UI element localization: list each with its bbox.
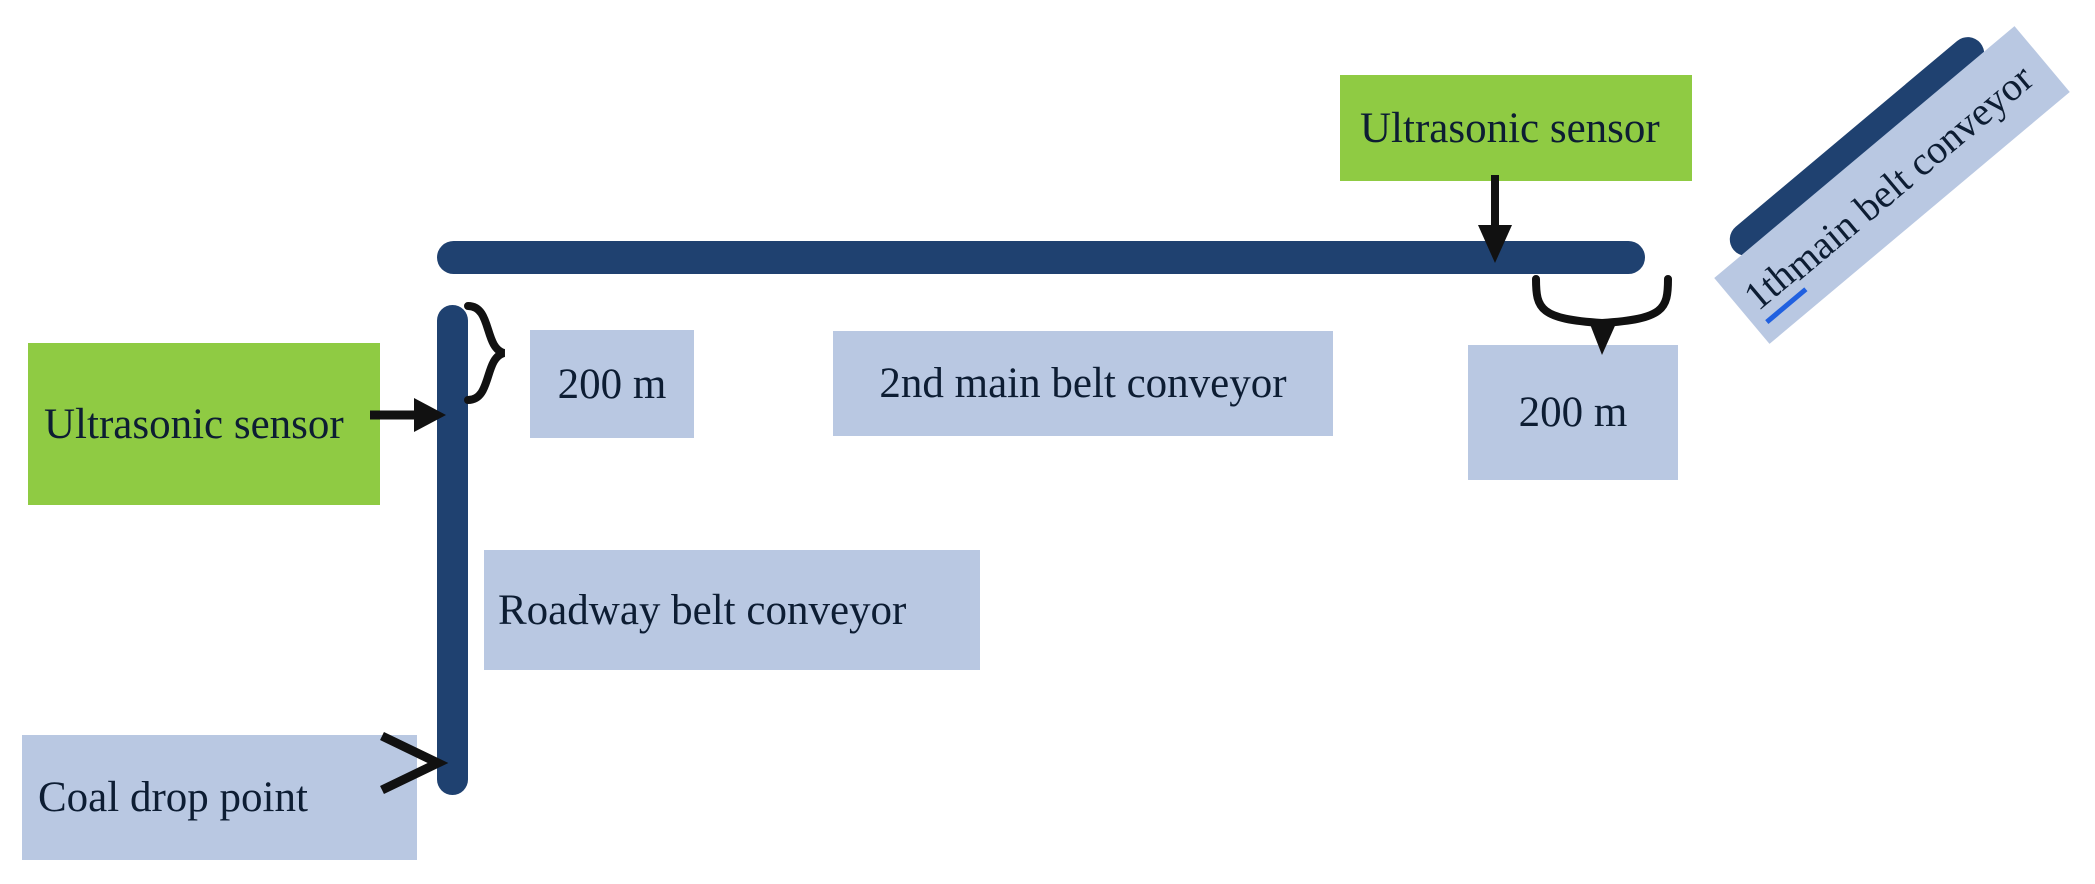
ultrasonic-sensor-left-label: Ultrasonic sensor [44,400,344,449]
coal-drop-point-box: Coal drop point [22,735,417,860]
diagram-canvas: 1th main belt conveyor Ultrasonic sensor… [0,0,2095,884]
second-main-belt-conveyor-belt [437,241,1645,274]
ultrasonic-sensor-left-box: Ultrasonic sensor [28,343,380,505]
second-main-belt-conveyor-label-box: 2nd main belt conveyor [833,331,1333,436]
first-main-belt-conveyor-label-suffix: main belt conveyor [1775,54,2042,288]
coal-drop-point-label: Coal drop point [38,773,308,822]
brace-left-icon [462,300,542,410]
distance-right-box: 200 m [1468,345,1678,480]
ultrasonic-sensor-right-label: Ultrasonic sensor [1360,104,1660,153]
distance-left-label: 200 m [558,360,667,409]
arrow-down-icon [1470,175,1520,265]
distance-left-box: 200 m [530,330,694,438]
arrow-coal-drop-icon [378,728,450,798]
roadway-belt-conveyor-label: Roadway belt conveyor [498,586,906,635]
first-main-belt-conveyor-label-wrap: 1th main belt conveyor [1674,32,2074,332]
first-main-belt-conveyor-label: 1th main belt conveyor [1714,26,2070,344]
second-main-belt-conveyor-label: 2nd main belt conveyor [879,359,1286,408]
distance-right-label: 200 m [1519,388,1628,437]
brace-right-icon [1530,275,1690,365]
ultrasonic-sensor-right-box: Ultrasonic sensor [1340,75,1692,181]
arrow-right-icon [368,390,448,440]
roadway-belt-conveyor-label-box: Roadway belt conveyor [484,550,980,670]
